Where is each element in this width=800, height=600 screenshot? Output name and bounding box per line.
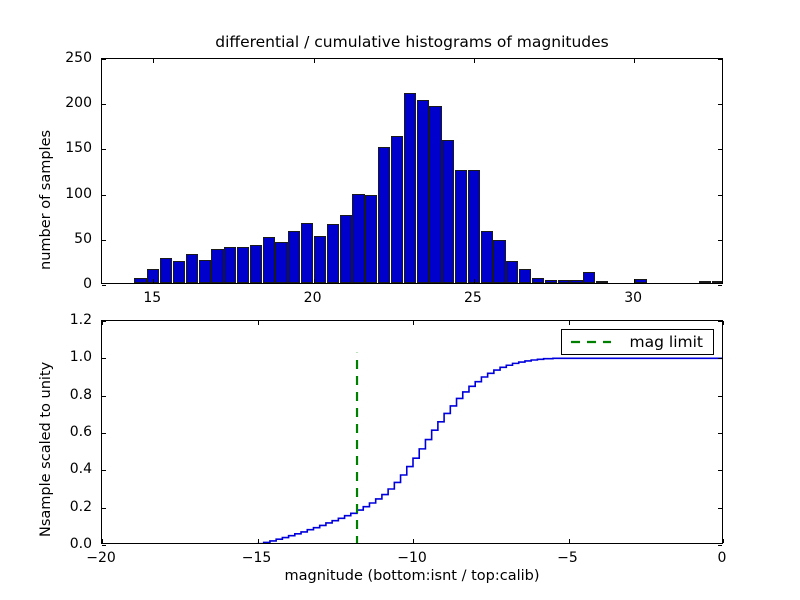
histogram-bar: [327, 224, 339, 283]
histogram-bar: [635, 279, 647, 283]
y-tick-right: [718, 285, 722, 286]
histogram-bar: [301, 223, 313, 283]
bottom-panel-x-axis-label: magnitude (bottom:isnt / top:calib): [101, 568, 723, 584]
y-tick-left: [102, 358, 106, 359]
y-tick-label: 0.2: [32, 499, 92, 515]
histogram-bar: [429, 106, 441, 283]
x-tick-label: 0: [718, 550, 727, 566]
histogram-bar: [558, 280, 570, 283]
y-tick-right: [718, 433, 722, 434]
y-tick-right: [718, 358, 722, 359]
histogram-bar: [699, 281, 711, 283]
histogram-bar: [314, 236, 326, 283]
histogram-bar: [468, 170, 480, 283]
y-tick-label: 0.8: [32, 387, 92, 403]
bottom-panel-axes: mag limit: [101, 320, 723, 544]
x-tick-top: [474, 59, 475, 63]
x-tick-top: [634, 59, 635, 63]
y-tick-left: [102, 285, 106, 286]
histogram-bar: [340, 215, 352, 283]
histogram-bar: [237, 247, 249, 283]
histogram-bar: [134, 278, 146, 283]
histogram-bar: [442, 140, 454, 283]
x-tick-bottom: [153, 279, 154, 283]
x-tick-top: [153, 59, 154, 63]
x-tick-label: 25: [464, 290, 482, 306]
x-tick-top: [413, 321, 414, 325]
y-tick-left: [102, 508, 106, 509]
y-tick-label: 1.2: [32, 312, 92, 328]
y-tick-label: 100: [32, 186, 92, 202]
y-tick-left: [102, 149, 106, 150]
x-tick-bottom: [258, 539, 259, 543]
x-tick-label: 20: [304, 290, 322, 306]
figure-canvas: differential / cumulative histograms of …: [0, 0, 800, 600]
x-tick-label: −15: [242, 550, 272, 566]
y-tick-left: [102, 433, 106, 434]
y-tick-right: [718, 470, 722, 471]
histogram-bar: [519, 269, 531, 283]
top-panel-axes: [101, 58, 723, 284]
x-tick-bottom: [723, 539, 724, 543]
y-tick-left: [102, 396, 106, 397]
y-tick-right: [718, 321, 722, 322]
histogram-bar: [173, 261, 185, 283]
histogram-bar: [712, 281, 723, 283]
histogram-bar: [199, 260, 211, 283]
cumulative-step-line: [102, 358, 722, 543]
histogram-bar: [596, 281, 608, 283]
histogram-bar: [455, 170, 467, 283]
x-tick-top: [258, 321, 259, 325]
histogram-bar: [288, 231, 300, 283]
legend[interactable]: mag limit: [561, 329, 714, 355]
y-tick-left: [102, 104, 106, 105]
y-tick-right: [718, 195, 722, 196]
y-tick-label: 200: [32, 95, 92, 111]
y-tick-label: 150: [32, 140, 92, 156]
histogram-bar: [532, 278, 544, 283]
y-tick-left: [102, 321, 106, 322]
x-tick-top: [314, 59, 315, 63]
y-tick-right: [718, 396, 722, 397]
histogram-bar: [493, 240, 505, 283]
histogram-bar: [352, 194, 364, 283]
x-tick-label: 15: [143, 290, 161, 306]
y-tick-right: [718, 508, 722, 509]
histogram-bar: [404, 93, 416, 283]
y-tick-left: [102, 470, 106, 471]
x-tick-bottom: [413, 539, 414, 543]
x-tick-bottom: [102, 539, 103, 543]
y-tick-right: [718, 149, 722, 150]
y-tick-label: 0.6: [32, 424, 92, 440]
y-tick-right: [718, 545, 722, 546]
histogram-bar: [250, 245, 262, 283]
y-tick-label: 1.0: [32, 349, 92, 365]
histogram-bar: [545, 280, 557, 283]
x-tick-top: [723, 321, 724, 325]
mag-limit-line-icon: [570, 335, 612, 349]
x-tick-label: 30: [624, 290, 642, 306]
x-tick-top: [569, 321, 570, 325]
histogram-bar: [570, 280, 582, 283]
y-tick-left: [102, 545, 106, 546]
histogram-plot-area: [102, 59, 722, 283]
y-tick-left: [102, 59, 106, 60]
histogram-bar: [224, 247, 236, 283]
y-tick-right: [718, 240, 722, 241]
y-tick-label: 250: [32, 50, 92, 66]
y-tick-right: [718, 59, 722, 60]
chart-title: differential / cumulative histograms of …: [101, 33, 723, 51]
x-tick-bottom: [314, 279, 315, 283]
x-tick-label: −10: [397, 550, 427, 566]
histogram-bar: [365, 195, 377, 283]
histogram-bar: [263, 237, 275, 283]
histogram-bar: [275, 242, 287, 283]
y-tick-label: 50: [32, 231, 92, 247]
x-tick-bottom: [634, 279, 635, 283]
histogram-bar: [186, 254, 198, 283]
y-tick-label: 0.0: [32, 536, 92, 552]
x-tick-label: −20: [86, 550, 116, 566]
x-tick-label: −5: [557, 550, 578, 566]
histogram-bar: [481, 231, 493, 283]
histogram-bar: [160, 258, 172, 283]
y-tick-left: [102, 240, 106, 241]
histogram-bar: [378, 147, 390, 283]
x-tick-bottom: [474, 279, 475, 283]
y-tick-left: [102, 195, 106, 196]
y-tick-right: [718, 104, 722, 105]
histogram-bar: [391, 136, 403, 283]
x-tick-bottom: [569, 539, 570, 543]
y-tick-label: 0.4: [32, 461, 92, 477]
legend-label-mag-limit: mag limit: [630, 333, 703, 351]
y-tick-label: 0: [32, 276, 92, 292]
histogram-bar: [211, 249, 223, 283]
histogram-bar: [506, 261, 518, 283]
histogram-bar: [417, 100, 429, 284]
histogram-bar: [583, 272, 595, 283]
